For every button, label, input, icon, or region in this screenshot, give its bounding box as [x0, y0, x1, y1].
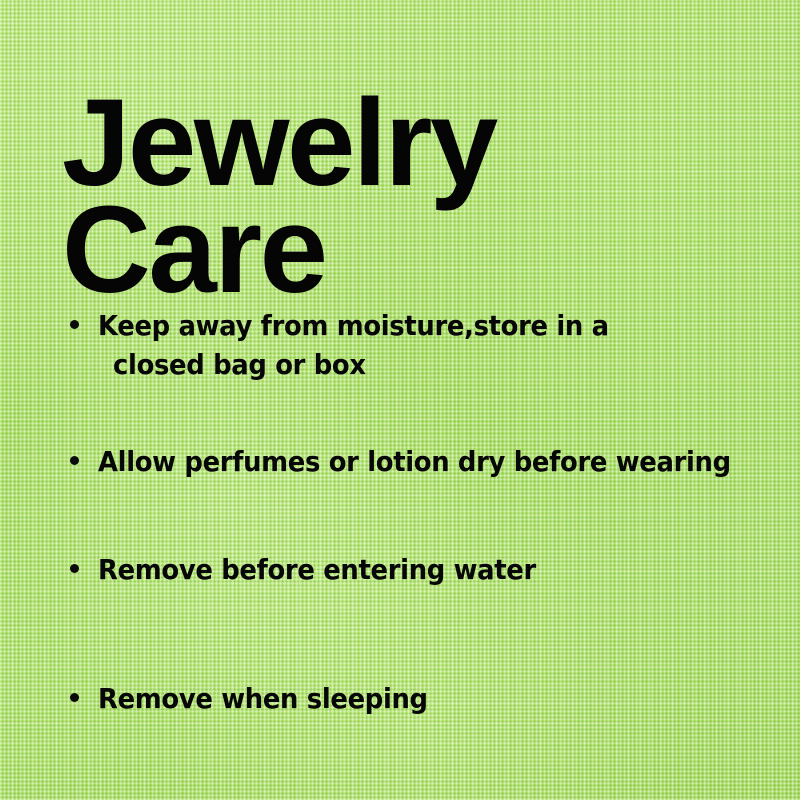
jewelry-care-poster: Jewelry Care Keep away from moisture,sto…	[0, 0, 800, 800]
bullet-dot-icon	[70, 456, 79, 465]
bullet-dot-icon	[70, 320, 79, 329]
list-item-label: Remove when sleeping	[98, 680, 428, 719]
page-title: Jewelry Care	[62, 90, 762, 304]
list-item: Keep away from moisture,store in aclosed…	[70, 307, 641, 385]
list-item-label: Remove before entering water	[98, 551, 536, 590]
list-item-label: Allow perfumes or lotion dry before wear…	[98, 443, 731, 482]
list-item: Remove when sleeping	[70, 680, 449, 719]
list-item: Remove before entering water	[70, 551, 564, 590]
bullet-dot-icon	[70, 564, 79, 573]
list-item-line-2: closed bag or box	[98, 346, 609, 385]
bullet-dot-icon	[70, 693, 79, 702]
list-item-line-1: Keep away from moisture,store in a	[98, 310, 609, 342]
poster-content: Jewelry Care Keep away from moisture,sto…	[0, 0, 800, 800]
list-item-label: Keep away from moisture,store in aclosed…	[98, 307, 609, 385]
list-item: Allow perfumes or lotion dry before wear…	[70, 443, 771, 482]
